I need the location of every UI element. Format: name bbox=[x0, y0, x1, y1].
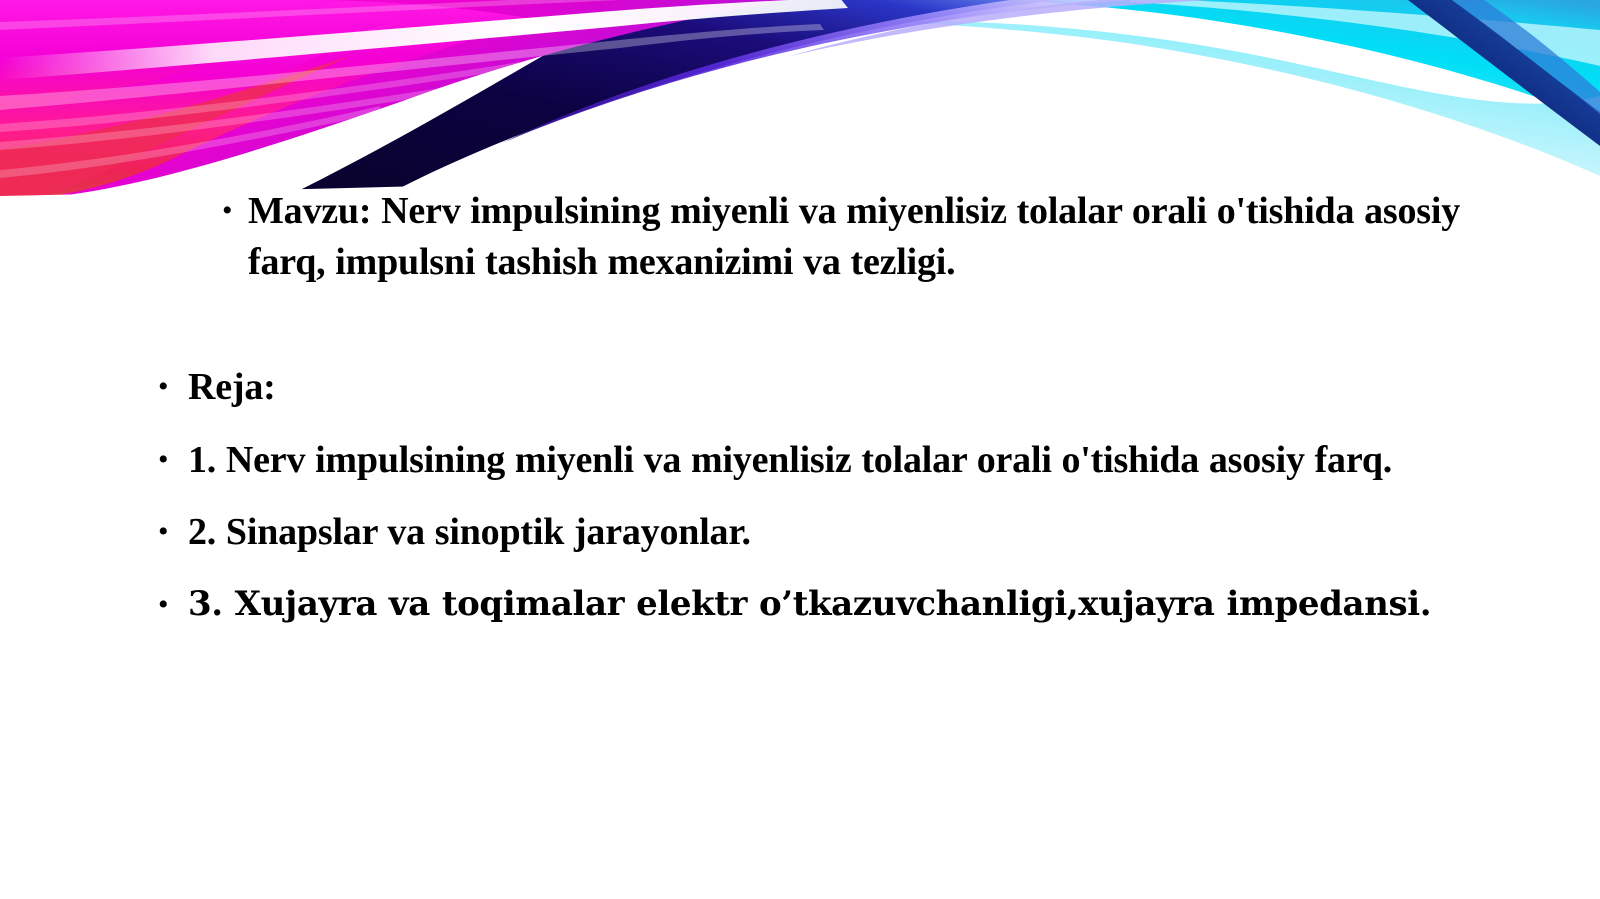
list-item-text: 3. Xujayra va toqimalar elektr o’tkazuvc… bbox=[188, 580, 1431, 628]
wave-blue-stripe bbox=[1452, 0, 1600, 114]
wave-cyan bbox=[900, 0, 1600, 120]
wave-violet-edge-2 bbox=[790, 0, 1210, 56]
wave-pink-bottom bbox=[0, 56, 350, 200]
list-item-text: 1. Nerv impulsining miyenli va miyenlisi… bbox=[188, 435, 1392, 486]
wave-navy-stripe bbox=[1408, 0, 1600, 146]
bullet-point-icon: • bbox=[158, 435, 188, 475]
decorative-wave-banner bbox=[0, 0, 1600, 200]
wave-graphic bbox=[0, 0, 1600, 200]
wave-magenta-lower bbox=[0, 0, 540, 200]
list-item: • 1. Nerv impulsining miyenli va miyenli… bbox=[158, 435, 1458, 486]
list-item: • 2. Sinapslar va sinoptik jarayonlar. bbox=[158, 507, 1458, 558]
slide-title-bullet: • Mavzu: Nerv impulsining miyenli va miy… bbox=[222, 186, 1462, 288]
bullet-point-icon: • bbox=[222, 186, 248, 226]
wave-white-streak-thin bbox=[0, 24, 824, 110]
slide-body-list: • Reja: • 1. Nerv impulsining miyenli va… bbox=[158, 362, 1458, 650]
wave-cyan-soft bbox=[880, 21, 1600, 176]
wave-rib-group bbox=[0, 0, 642, 178]
wave-violet-edge bbox=[500, 0, 1130, 144]
bullet-point-icon: • bbox=[158, 507, 188, 547]
list-item: • 3. Xujayra va toqimalar elektr o’tkazu… bbox=[158, 580, 1458, 628]
list-item-text: 2. Sinapslar va sinoptik jarayonlar. bbox=[188, 507, 751, 558]
bullet-point-icon: • bbox=[158, 580, 188, 620]
wave-magenta bbox=[0, 0, 790, 200]
wave-white-streak bbox=[0, 0, 848, 80]
wave-cyan-highlight bbox=[1130, 0, 1600, 66]
wave-navy-band bbox=[300, 0, 1060, 190]
presentation-slide: • Mavzu: Nerv impulsining miyenli va miy… bbox=[0, 0, 1600, 899]
slide-title-text: Mavzu: Nerv impulsining miyenli va miyen… bbox=[248, 186, 1462, 288]
bullet-point-icon: • bbox=[158, 362, 188, 402]
wave-bottom-clearance bbox=[0, 0, 1600, 200]
list-item: • Reja: bbox=[158, 362, 1458, 413]
list-item-text: Reja: bbox=[188, 362, 276, 413]
wave-magenta-bottom bbox=[0, 22, 400, 200]
